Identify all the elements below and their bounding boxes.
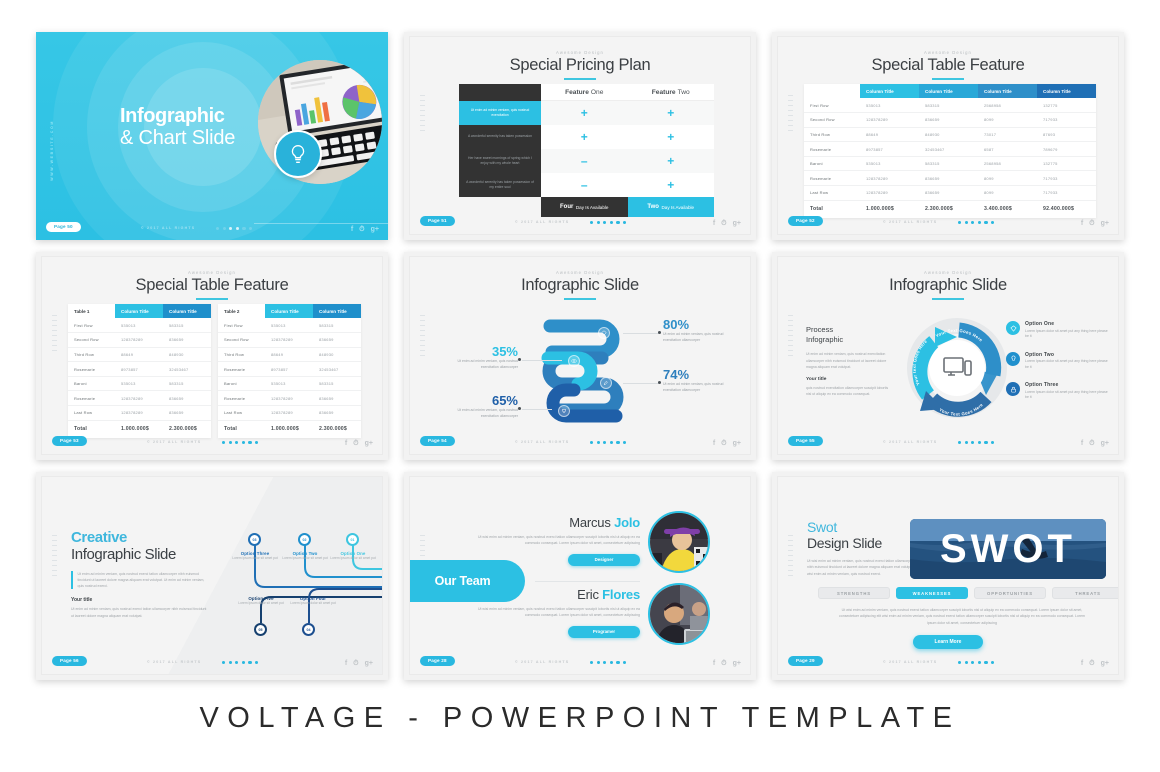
pricing-cell-one: + bbox=[541, 101, 628, 125]
facebook-icon[interactable]: f bbox=[1081, 660, 1083, 668]
slide-footer: Page 54 © 2017 ALL RIGHTS f ⏱ g+ bbox=[410, 426, 750, 454]
slide-thumbnail-creative[interactable]: Creative Infographic Slide Ut enim ad mi… bbox=[36, 472, 388, 680]
avatar bbox=[648, 583, 710, 645]
twitter-icon[interactable]: ⏱ bbox=[721, 660, 726, 668]
copyright-text: © 2017 ALL RIGHTS bbox=[883, 220, 937, 224]
cell: 583315 bbox=[919, 98, 978, 113]
pagination-dots[interactable] bbox=[222, 441, 258, 444]
facebook-icon[interactable]: f bbox=[713, 440, 715, 448]
creative-sub-title: Your title bbox=[71, 597, 209, 603]
leader-line bbox=[522, 360, 562, 361]
pagination-dots[interactable] bbox=[222, 661, 258, 664]
node-03[interactable]: 03 bbox=[248, 533, 261, 546]
cell: 8973857 bbox=[115, 362, 163, 377]
option-desc: Lorem Ipsum dolor sit amet put bbox=[282, 601, 344, 606]
col1-light: One bbox=[591, 89, 603, 96]
social-icons[interactable]: f ⏱ g+ bbox=[345, 440, 373, 448]
cell: 88649 bbox=[860, 127, 919, 142]
cell: 2568958 bbox=[978, 98, 1037, 113]
cell: 88649 bbox=[115, 347, 163, 362]
copyright-text: © 2017 ALL RIGHTS bbox=[515, 440, 569, 444]
team-member-1: Marcus Jolo Ut wisi enim ad minim veniam… bbox=[470, 515, 640, 566]
pricing-col-header-2: Feature Two bbox=[628, 84, 715, 101]
rocket-icon bbox=[600, 377, 612, 389]
option-row[interactable]: Option Two Lorem Ipsum dolor sit amet pu… bbox=[1006, 352, 1111, 371]
member-role-button[interactable]: Designer bbox=[568, 554, 640, 566]
cell: Third Row bbox=[68, 347, 115, 362]
diamond-icon bbox=[1006, 321, 1020, 335]
googleplus-icon[interactable]: g+ bbox=[733, 660, 741, 668]
node-04[interactable]: 04 bbox=[302, 623, 315, 636]
pricing-cell-two: + bbox=[628, 173, 715, 197]
swot-body: Ut wisi enim ad minim veniam, quis nostr… bbox=[836, 607, 1088, 626]
process-sub-body: quis nostrud exercitation ullamcorper su… bbox=[806, 385, 892, 398]
pricing-row: Ut enim ad minim veniam, quis nostrud ex… bbox=[459, 101, 714, 125]
swot-title-line2: Design Slide bbox=[807, 535, 919, 551]
bulb-icon bbox=[1006, 352, 1020, 366]
pricing-row-desc: A wonderful serenity has taken possessio… bbox=[459, 125, 541, 149]
facebook-icon[interactable]: f bbox=[351, 226, 353, 234]
table-head-1: Column Title bbox=[115, 304, 163, 318]
cell: 583315 bbox=[919, 156, 978, 171]
pricing-table: Feature One Feature Two Ut enim ad minim… bbox=[459, 84, 714, 217]
option-row[interactable]: Option Three Lorem Ipsum dolor sit amet … bbox=[1006, 382, 1111, 401]
snake-graphic bbox=[538, 314, 628, 429]
table-row: Rosemarie897385732453467 bbox=[68, 362, 211, 377]
title-underline bbox=[932, 298, 964, 300]
table-row: Rosemarie128378289836659 bbox=[68, 391, 211, 406]
cell: 535013 bbox=[115, 376, 163, 391]
cell: 836659 bbox=[919, 186, 978, 201]
cell: 73017 bbox=[978, 127, 1037, 142]
process-body: Ut enim ad minim veniam, quis nostrud ex… bbox=[806, 351, 892, 370]
slide-eyebrow: Awesome Design bbox=[778, 270, 1118, 275]
cell: Baroni bbox=[68, 376, 115, 391]
table-row: Third Row88649848930 bbox=[218, 347, 361, 362]
cell: 128378289 bbox=[860, 171, 919, 186]
facebook-icon[interactable]: f bbox=[345, 440, 347, 448]
hero-background: WWW.WEBSITE.COM Infographic & Chart Slid… bbox=[36, 32, 388, 240]
slide-grid: WWW.WEBSITE.COM Infographic & Chart Slid… bbox=[36, 32, 1124, 680]
slide-canvas: Our Team Marcus Jolo Ut wisi enim ad min… bbox=[409, 476, 751, 675]
data-table: Column Title Column Title Column Title C… bbox=[804, 84, 1096, 218]
option-name: Option One bbox=[1025, 321, 1111, 327]
team-member-2: Eric Flores Ut wisi enim ad minim veniam… bbox=[470, 587, 640, 638]
percent-value: 74% bbox=[663, 367, 741, 382]
pricing-row-desc: Ut enim ad minim veniam, quis nostrud ex… bbox=[459, 101, 541, 125]
table-head-3: Column Title bbox=[978, 84, 1037, 98]
twitter-icon[interactable]: ⏱ bbox=[1089, 660, 1094, 668]
creative-body: Ut enim ad minim veniam, quis nostrud ex… bbox=[78, 571, 210, 589]
col1-strong: Feature bbox=[565, 89, 589, 96]
node-01[interactable]: 01 bbox=[346, 533, 359, 546]
table-row: First Row535013583315 bbox=[68, 318, 211, 333]
leader-line bbox=[623, 333, 659, 334]
cell: 848930 bbox=[919, 127, 978, 142]
page-badge[interactable]: Page 56 bbox=[52, 656, 87, 666]
leader-dot bbox=[518, 407, 521, 410]
footer-rule bbox=[254, 223, 388, 224]
slide-thumbnail-table-a[interactable]: Awesome Design Special Table Feature Col… bbox=[772, 32, 1124, 240]
twitter-icon[interactable]: ⏱ bbox=[721, 220, 726, 228]
percent-desc: Ut enim ad minim veniam, quis nostrud ex… bbox=[440, 359, 518, 370]
slide-footer: Page 29 © 2017 ALL RIGHTS f ⏱ g+ bbox=[778, 646, 1118, 674]
swot-title-line1: Swot bbox=[807, 519, 919, 535]
cell: 836659 bbox=[163, 333, 211, 348]
pricing-cell-two: + bbox=[628, 149, 715, 173]
cell: 836659 bbox=[919, 171, 978, 186]
pagination-dots[interactable] bbox=[590, 441, 626, 444]
facebook-icon[interactable]: f bbox=[345, 660, 347, 668]
option-row[interactable]: Option One Lorem Ipsum dolor sit amet pu… bbox=[1006, 321, 1111, 340]
tab-opportunities[interactable]: OPPORTUNITIES bbox=[974, 587, 1046, 599]
cell: Second Row bbox=[804, 113, 860, 128]
slide-thumbnail-swot[interactable]: Swot Design Slide Ut wisi enim ad minim … bbox=[772, 472, 1124, 680]
eye-icon bbox=[568, 355, 580, 367]
table-head-name: Table 2 bbox=[218, 304, 265, 318]
social-icons[interactable]: f ⏱ g+ bbox=[1081, 660, 1109, 668]
side-ticks bbox=[788, 95, 793, 131]
cell: 128378289 bbox=[115, 406, 163, 421]
facebook-icon[interactable]: f bbox=[1081, 440, 1083, 448]
quote-bar bbox=[71, 571, 73, 589]
title-underline bbox=[932, 78, 964, 80]
table-row: Second Row128378289836659 bbox=[218, 333, 361, 348]
page-badge[interactable]: Page 55 bbox=[788, 436, 823, 446]
copyright-text: © 2017 ALL RIGHTS bbox=[515, 660, 569, 664]
twitter-icon[interactable]: ⏱ bbox=[1089, 220, 1094, 228]
page-badge[interactable]: Page 52 bbox=[788, 216, 823, 226]
cell: Second Row bbox=[68, 333, 115, 348]
cell: 836659 bbox=[163, 406, 211, 421]
cell: 128378289 bbox=[265, 391, 313, 406]
social-icons[interactable]: f ⏱ g+ bbox=[713, 220, 741, 228]
pricing-body: Ut enim ad minim veniam, quis nostrud ex… bbox=[459, 101, 714, 197]
slide-footer: Page 53 © 2017 ALL RIGHTS f ⏱ g+ bbox=[42, 426, 382, 454]
poster-title: VOLTAGE - POWERPOINT TEMPLATE bbox=[0, 702, 1160, 735]
googleplus-icon[interactable]: g+ bbox=[365, 440, 373, 448]
cup-icon bbox=[558, 405, 570, 417]
cell: Last Row bbox=[804, 186, 860, 201]
cell: 836659 bbox=[919, 113, 978, 128]
table-row: Rosemarie1283782898366598099717933 bbox=[804, 171, 1096, 186]
tab-threats[interactable]: THREATS bbox=[1052, 587, 1119, 599]
slide-thumbnail-pricing[interactable]: Awesome Design Special Pricing Plan Feat… bbox=[404, 32, 756, 240]
percent-desc: Ut enim ad minim veniam, quis nostrud ex… bbox=[663, 332, 741, 343]
pricing-row: A wonderful serenity has taken possessio… bbox=[459, 173, 714, 197]
cell: 717933 bbox=[1037, 186, 1096, 201]
swot-intro: Ut wisi enim ad minim veniam, quis nostr… bbox=[807, 558, 919, 577]
lightbulb-icon bbox=[274, 130, 322, 178]
googleplus-icon[interactable]: g+ bbox=[1101, 660, 1109, 668]
page-badge[interactable]: Page 54 bbox=[420, 436, 455, 446]
swot-left-column: Swot Design Slide Ut wisi enim ad minim … bbox=[807, 519, 919, 577]
cell: 128378289 bbox=[265, 333, 313, 348]
pagination-dots[interactable] bbox=[216, 227, 252, 230]
social-icons[interactable]: f ⏱ g+ bbox=[713, 660, 741, 668]
slide-thumbnail-table-b[interactable]: Awesome Design Special Table Feature Tab… bbox=[36, 252, 388, 460]
cell: 836659 bbox=[313, 333, 361, 348]
cell: 128378289 bbox=[860, 113, 919, 128]
social-icons[interactable]: f ⏱ g+ bbox=[1081, 220, 1109, 228]
slide-footer: Page 51 © 2017 ALL RIGHTS f ⏱ g+ bbox=[410, 206, 750, 234]
googleplus-icon[interactable]: g+ bbox=[365, 660, 373, 668]
cell: Rosemarie bbox=[68, 391, 115, 406]
cell: 8973857 bbox=[860, 142, 919, 157]
tab-weaknesses[interactable]: WEAKNESSES bbox=[896, 587, 968, 599]
pricing-header-row: Feature One Feature Two bbox=[459, 84, 714, 101]
facebook-icon[interactable]: f bbox=[713, 220, 715, 228]
slide-thumbnail-team[interactable]: Our Team Marcus Jolo Ut wisi enim ad min… bbox=[404, 472, 756, 680]
node-label-04: Option Four Lorem Ipsum dolor sit amet p… bbox=[282, 596, 344, 606]
page-badge[interactable]: Page 29 bbox=[788, 656, 823, 666]
member-last-name: Jolo bbox=[614, 515, 640, 530]
process-ring-graphic: Your Text Goes Here Your text Goes Here … bbox=[902, 313, 1012, 423]
cell: 8973857 bbox=[265, 362, 313, 377]
side-ticks bbox=[788, 535, 793, 576]
member-desc: Ut wisi enim ad minim veniam, quis nostr… bbox=[470, 535, 640, 547]
twitter-icon[interactable]: ⏱ bbox=[359, 226, 364, 234]
cell: 583315 bbox=[313, 376, 361, 391]
cell: 132775 bbox=[1037, 98, 1096, 113]
page-badge[interactable]: Page 53 bbox=[52, 436, 87, 446]
copyright-text: © 2017 ALL RIGHTS bbox=[515, 220, 569, 224]
twitter-icon[interactable]: ⏱ bbox=[353, 660, 358, 668]
node-05[interactable]: 05 bbox=[254, 623, 267, 636]
page-badge[interactable]: Page 51 bbox=[420, 216, 455, 226]
leader-line bbox=[623, 383, 659, 384]
slide-title: Infographic Slide bbox=[778, 276, 1118, 295]
table-row: Baroni535013583315 bbox=[218, 376, 361, 391]
table-header-row: Table 1 Column Title Column Title bbox=[68, 304, 211, 318]
cell: 88649 bbox=[265, 347, 313, 362]
option-desc: Lorem Ipsum dolor sit amet put any thing… bbox=[1025, 359, 1111, 371]
cell: Rosemarie bbox=[804, 171, 860, 186]
cell: Third Row bbox=[218, 347, 265, 362]
pagination-dots[interactable] bbox=[590, 661, 626, 664]
copyright-text: © 2017 ALL RIGHTS bbox=[147, 660, 201, 664]
table-row: Third Row886498489307301787693 bbox=[804, 127, 1096, 142]
cell: 132775 bbox=[1037, 156, 1096, 171]
slide-title: Infographic Slide bbox=[410, 276, 750, 295]
page-badge[interactable]: Page 28 bbox=[420, 656, 455, 666]
facebook-icon[interactable]: f bbox=[713, 660, 715, 668]
option-desc: Lorem Ipsum dolor sit amet put any thing… bbox=[1025, 329, 1111, 341]
cell: 535013 bbox=[115, 318, 163, 333]
hero-title: Infographic & Chart Slide bbox=[120, 106, 235, 149]
cell: 836659 bbox=[313, 391, 361, 406]
node-02[interactable]: 02 bbox=[298, 533, 311, 546]
cell: 583315 bbox=[163, 318, 211, 333]
table-head-2: Column Title bbox=[313, 304, 361, 318]
pagination-dots[interactable] bbox=[958, 441, 994, 444]
slide-title: Special Table Feature bbox=[778, 56, 1118, 75]
option-name: Option Three bbox=[1025, 382, 1111, 388]
slide-footer: Page 56 © 2017 ALL RIGHTS f ⏱ g+ bbox=[42, 646, 382, 674]
pricing-row: A wonderful serenity has taken possessio… bbox=[459, 125, 714, 149]
col2-light: Two bbox=[678, 89, 690, 96]
percent-item-35: 35% Ut enim ad minim veniam, quis nostru… bbox=[440, 344, 518, 370]
cell: 789679 bbox=[1037, 142, 1096, 157]
pricing-corner-cell bbox=[459, 84, 541, 101]
slide-eyebrow: Awesome Design bbox=[42, 270, 382, 275]
cell: Last Row bbox=[218, 406, 265, 421]
table-row: Second Row1283782898366598099717933 bbox=[804, 113, 1096, 128]
social-icons[interactable]: f ⏱ g+ bbox=[713, 440, 741, 448]
cell: 128378289 bbox=[265, 406, 313, 421]
tab-strengths[interactable]: STRENGTHS bbox=[818, 587, 890, 599]
percent-item-80: 80% Ut enim ad minim veniam, quis nostru… bbox=[663, 317, 741, 343]
googleplus-icon[interactable]: g+ bbox=[1101, 440, 1109, 448]
table-row: Last Row128378289836659 bbox=[68, 406, 211, 421]
hero-title-line2: & Chart Slide bbox=[120, 128, 235, 150]
pricing-cell-one: + bbox=[541, 125, 628, 149]
table-row: Rosemarie8973857324534676587789679 bbox=[804, 142, 1096, 157]
pagination-dots[interactable] bbox=[958, 221, 994, 224]
member-role-button[interactable]: Programer bbox=[568, 626, 640, 638]
table-head-4: Column Title bbox=[1037, 84, 1096, 98]
pagination-dots[interactable] bbox=[590, 221, 626, 224]
avatar bbox=[648, 511, 710, 573]
cell: 583315 bbox=[313, 318, 361, 333]
percent-value: 65% bbox=[440, 393, 518, 408]
table-row: Rosemarie897385732453467 bbox=[218, 362, 361, 377]
table-head-1: Column Title bbox=[265, 304, 313, 318]
col2-strong: Feature bbox=[652, 89, 676, 96]
twitter-icon[interactable]: ⏱ bbox=[1089, 440, 1094, 448]
cell: 717933 bbox=[1037, 113, 1096, 128]
cell: 848930 bbox=[313, 347, 361, 362]
title-underline bbox=[196, 298, 228, 300]
table-head-1: Column Title bbox=[860, 84, 919, 98]
slide-canvas: Awesome Design Special Pricing Plan Feat… bbox=[409, 36, 751, 235]
leader-dot bbox=[518, 358, 521, 361]
cell: Baroni bbox=[218, 376, 265, 391]
cell: First Row bbox=[218, 318, 265, 333]
twitter-icon[interactable]: ⏱ bbox=[721, 440, 726, 448]
cell: 128378289 bbox=[115, 333, 163, 348]
creative-title-line2: Infographic Slide bbox=[71, 546, 209, 563]
pricing-cell-one: – bbox=[541, 173, 628, 197]
percent-item-74: 74% Ut enim ad minim veniam, quis nostru… bbox=[663, 367, 741, 393]
cell: 717933 bbox=[1037, 171, 1096, 186]
member-name: Marcus Jolo bbox=[470, 515, 640, 530]
cell: Rosemarie bbox=[804, 142, 860, 157]
table-row: Second Row128378289836659 bbox=[68, 333, 211, 348]
table-row: First Row535013583315 bbox=[218, 318, 361, 333]
pricing-cell-two: + bbox=[628, 101, 715, 125]
cell: 128378289 bbox=[115, 391, 163, 406]
social-icons[interactable]: f ⏱ g+ bbox=[1081, 440, 1109, 448]
table-head-blank bbox=[804, 84, 860, 98]
side-ticks bbox=[52, 315, 57, 351]
cell: 836659 bbox=[313, 406, 361, 421]
cell: First Row bbox=[804, 98, 860, 113]
slide-canvas: Awesome Design Infographic Slide Process… bbox=[777, 256, 1119, 455]
googleplus-icon[interactable]: g+ bbox=[733, 440, 741, 448]
slide-title: Special Pricing Plan bbox=[410, 56, 750, 75]
table-head-name: Table 1 bbox=[68, 304, 115, 318]
cell: 32453467 bbox=[919, 142, 978, 157]
pricing-col-header-1: Feature One bbox=[541, 84, 628, 101]
slide-thumbnail-process[interactable]: Awesome Design Infographic Slide Process… bbox=[772, 252, 1124, 460]
option-name: Option Two bbox=[1025, 352, 1111, 358]
cell: 8099 bbox=[978, 113, 1037, 128]
cell: Rosemarie bbox=[218, 362, 265, 377]
side-ticks bbox=[52, 535, 57, 576]
cell: 2568958 bbox=[978, 156, 1037, 171]
website-vertical-text: WWW.WEBSITE.COM bbox=[50, 120, 54, 181]
slide-eyebrow: Awesome Design bbox=[410, 270, 750, 275]
copyright-text: © 2017 ALL RIGHTS bbox=[141, 226, 195, 230]
facebook-icon[interactable]: f bbox=[1081, 220, 1083, 228]
social-icons[interactable]: f ⏱ g+ bbox=[351, 226, 379, 234]
page-badge[interactable]: Page 50 bbox=[46, 222, 81, 232]
creative-title-line1: Creative bbox=[71, 529, 209, 546]
creative-sub-body: Ut enim ad minim veniam, quis nostrud ex… bbox=[71, 606, 209, 618]
member-last-name: Flores bbox=[602, 587, 640, 602]
data-table-1: Table 1 Column Title Column Title First … bbox=[68, 304, 211, 438]
divider-line bbox=[535, 581, 640, 582]
googleplus-icon[interactable]: g+ bbox=[371, 226, 379, 234]
slide-thumbnail-percent[interactable]: Awesome Design Infographic Slide bbox=[404, 252, 756, 460]
slide-canvas: Swot Design Slide Ut wisi enim ad minim … bbox=[777, 476, 1119, 675]
swot-banner: SWOT bbox=[910, 519, 1106, 579]
slide-eyebrow: Awesome Design bbox=[778, 50, 1118, 55]
member-desc: Ut wisi enim ad minim veniam, quis nostr… bbox=[470, 607, 640, 619]
member-first-name: Marcus bbox=[569, 515, 610, 530]
table-row: First Row5350135833152568958132775 bbox=[804, 98, 1096, 113]
option-desc: Lorem Ipsum dolor sit amet put bbox=[322, 556, 383, 561]
process-heading-line1: Process bbox=[806, 325, 892, 335]
percent-desc: Ut enim ad minim veniam, quis nostrud ex… bbox=[663, 382, 741, 393]
cell: Third Row bbox=[804, 127, 860, 142]
pagination-dots[interactable] bbox=[958, 661, 994, 664]
copyright-text: © 2017 ALL RIGHTS bbox=[147, 440, 201, 444]
process-sub-title: Your title bbox=[806, 377, 892, 382]
cell: 8099 bbox=[978, 186, 1037, 201]
googleplus-icon[interactable]: g+ bbox=[733, 220, 741, 228]
side-ticks bbox=[420, 95, 425, 131]
pricing-row-desc: A wonderful serenity has taken possessio… bbox=[459, 173, 541, 197]
slide-footer: Page 52 © 2017 ALL RIGHTS f ⏱ g+ bbox=[778, 206, 1118, 234]
cell: Second Row bbox=[218, 333, 265, 348]
cell: 87693 bbox=[1037, 127, 1096, 142]
leader-dot bbox=[658, 331, 661, 334]
member-name: Eric Flores bbox=[470, 587, 640, 602]
cell: Baroni bbox=[804, 156, 860, 171]
percent-item-65: 65% Ut enim ad minim veniam, quis nostru… bbox=[440, 393, 518, 419]
cell: 848930 bbox=[163, 347, 211, 362]
slide-canvas: Awesome Design Infographic Slide bbox=[409, 256, 751, 455]
side-ticks bbox=[788, 315, 793, 356]
social-icons[interactable]: f ⏱ g+ bbox=[345, 660, 373, 668]
copyright-text: © 2017 ALL RIGHTS bbox=[883, 440, 937, 444]
diamond-icon bbox=[598, 327, 610, 339]
slide-thumbnail-hero[interactable]: WWW.WEBSITE.COM Infographic & Chart Slid… bbox=[36, 32, 388, 240]
twitter-icon[interactable]: ⏱ bbox=[353, 440, 358, 448]
pricing-row-desc: Her have sweet mornings of spring which … bbox=[459, 149, 541, 173]
googleplus-icon[interactable]: g+ bbox=[1101, 220, 1109, 228]
slide-eyebrow: Awesome Design bbox=[410, 50, 750, 55]
percent-value: 35% bbox=[440, 344, 518, 359]
pricing-cell-two: + bbox=[628, 125, 715, 149]
process-heading: Process Infographic bbox=[806, 325, 892, 345]
cell: 535013 bbox=[860, 98, 919, 113]
swot-tabs[interactable]: STRENGTHS WEAKNESSES OPPORTUNITIES THREA… bbox=[818, 587, 1119, 599]
cell: 836659 bbox=[163, 391, 211, 406]
table-header-row: Table 2 Column Title Column Title bbox=[218, 304, 361, 318]
